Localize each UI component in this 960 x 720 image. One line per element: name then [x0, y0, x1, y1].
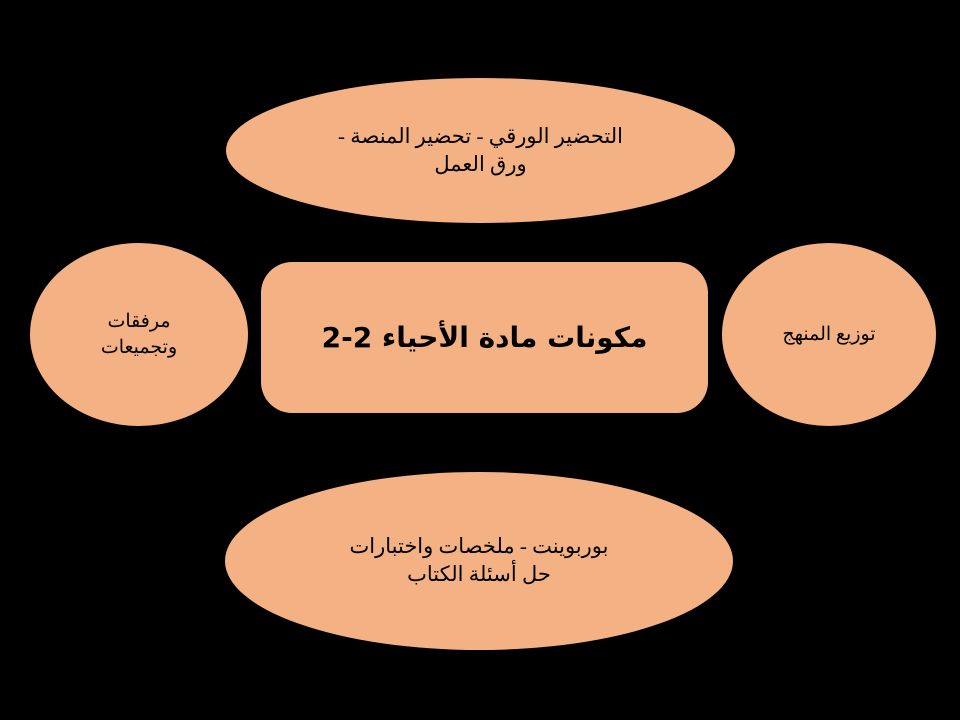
diagram-node-left-label: مرفقات وتجميعات [30, 309, 248, 360]
diagram-node-bottom-label: بوربوينت - ملخصات واختبارات حل أسئلة الك… [225, 533, 733, 588]
diagram-canvas: التحضير الورقي - تحضير المنصة - ورق العم… [0, 0, 960, 720]
diagram-node-bottom[interactable]: بوربوينت - ملخصات واختبارات حل أسئلة الك… [225, 472, 733, 650]
diagram-node-top-label: التحضير الورقي - تحضير المنصة - ورق العم… [226, 123, 735, 178]
diagram-node-left[interactable]: مرفقات وتجميعات [30, 243, 248, 426]
diagram-node-right-label: توزيع المنهج [722, 322, 936, 348]
diagram-node-center[interactable]: مكونات مادة الأحياء 2-2 [261, 262, 708, 413]
diagram-node-top[interactable]: التحضير الورقي - تحضير المنصة - ورق العم… [226, 78, 735, 223]
diagram-node-center-label: مكونات مادة الأحياء 2-2 [261, 320, 708, 355]
diagram-node-right[interactable]: توزيع المنهج [722, 243, 936, 426]
